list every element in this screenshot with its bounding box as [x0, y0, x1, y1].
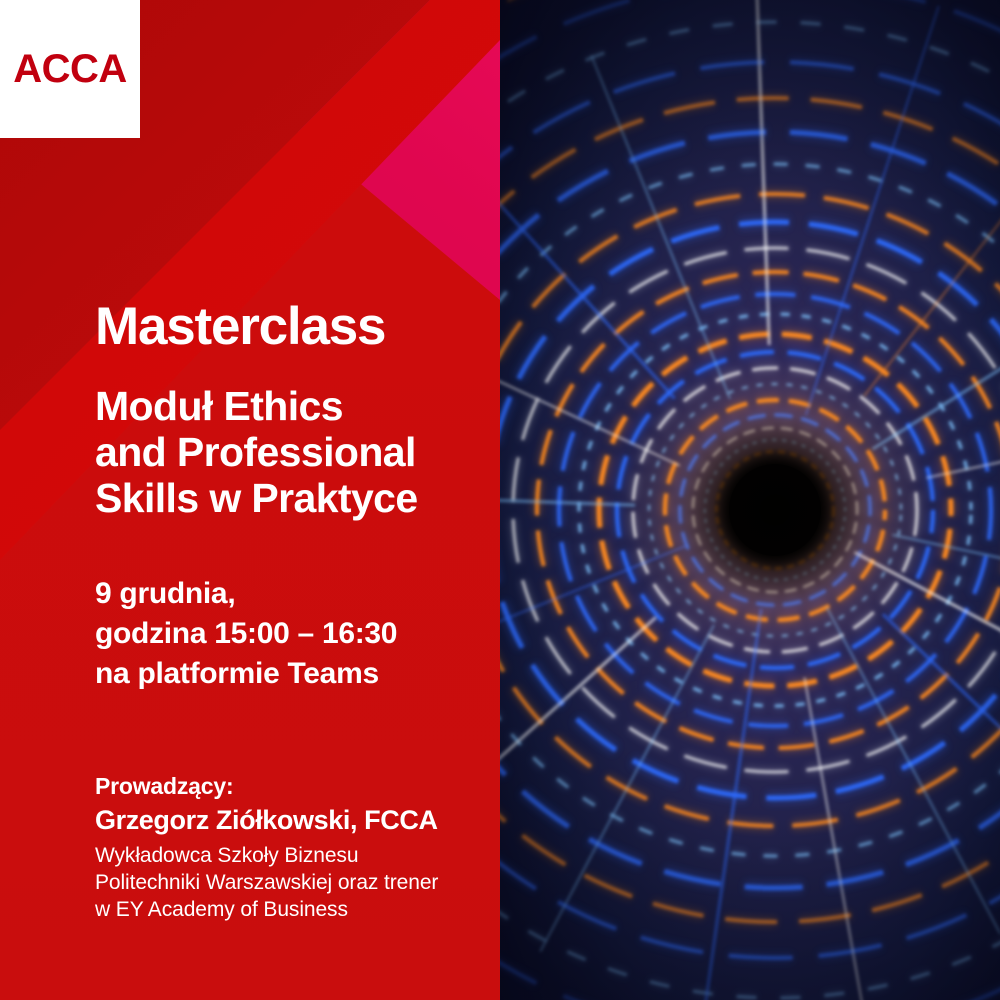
acca-logo-box: ACCA	[0, 0, 140, 138]
presenter-bio-line-1: Wykładowca Szkoły Biznesu	[95, 842, 500, 869]
datetime-line-date: 9 grudnia,	[95, 574, 500, 614]
left-red-panel: ACCA Masterclass Moduł Ethics and Profes…	[0, 0, 500, 1000]
datetime-line-time: godzina 15:00 – 16:30	[95, 614, 500, 654]
presenter-block: Prowadzący: Grzegorz Ziółkowski, FCCA Wy…	[95, 771, 500, 923]
poster-content: Masterclass Moduł Ethics and Professiona…	[95, 0, 495, 1000]
subtitle-line-3: Skills w Praktyce	[95, 475, 500, 521]
presenter-role-label: Prowadzący:	[95, 771, 500, 802]
presenter-bio-line-3: w EY Academy of Business	[95, 896, 500, 923]
presenter-bio: Wykładowca Szkoły Biznesu Politechniki W…	[95, 842, 500, 923]
datetime-line-platform: na platformie Teams	[95, 654, 500, 694]
subtitle-line-1: Moduł Ethics	[95, 383, 500, 429]
radial-light-tunnel-artwork	[500, 0, 1000, 1000]
presenter-bio-line-2: Politechniki Warszawskiej oraz trener	[95, 869, 500, 896]
page-title: Masterclass	[95, 300, 385, 353]
promo-poster: ACCA Masterclass Moduł Ethics and Profes…	[0, 0, 1000, 1000]
event-subtitle: Moduł Ethics and Professional Skills w P…	[95, 383, 500, 521]
artwork-panel	[500, 0, 1000, 1000]
event-datetime: 9 grudnia, godzina 15:00 – 16:30 na plat…	[95, 574, 500, 694]
acca-logo-text: ACCA	[13, 49, 127, 89]
presenter-name: Grzegorz Ziółkowski, FCCA	[95, 802, 500, 838]
subtitle-line-2: and Professional	[95, 429, 500, 475]
